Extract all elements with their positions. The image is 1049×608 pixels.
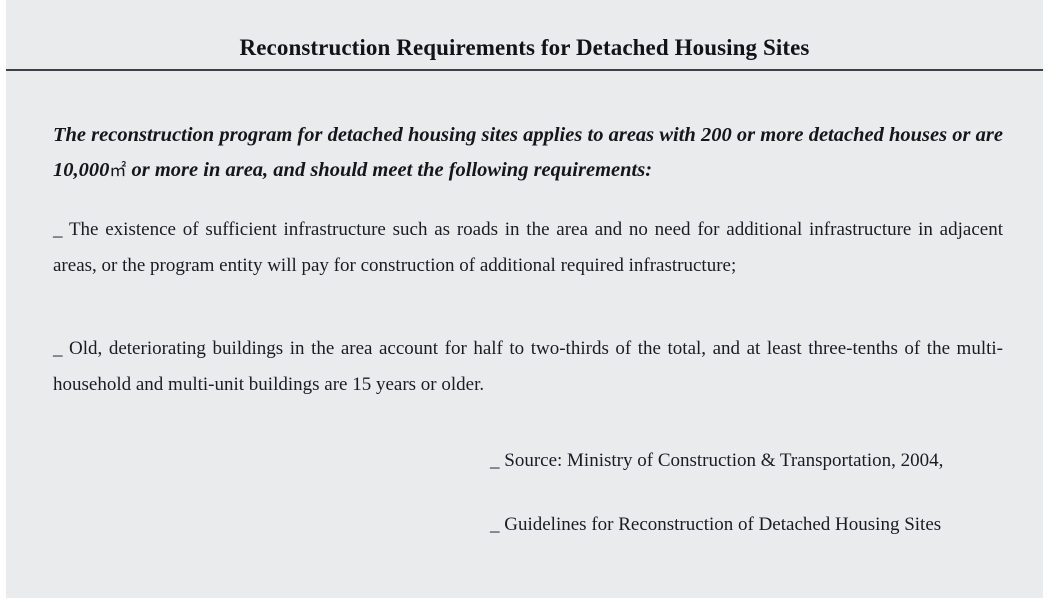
- clause-marker-icon: _: [53, 338, 63, 359]
- intro-paragraph: The reconstruction program for detached …: [53, 118, 1003, 188]
- document-page: Reconstruction Requirements for Detached…: [0, 0, 1049, 608]
- clause-text: Old, deteriorating buildings in the area…: [53, 338, 1003, 395]
- intro-text-part-2: or more in area, and should meet the fol…: [132, 159, 653, 181]
- title-block: Reconstruction Requirements for Detached…: [6, 34, 1043, 62]
- title-divider: [6, 69, 1043, 71]
- clause-item: _ Old, deteriorating buildings in the ar…: [53, 331, 1003, 403]
- clause-marker-icon: _: [53, 219, 63, 240]
- content-panel: Reconstruction Requirements for Detached…: [6, 0, 1043, 598]
- source-line-secondary: _ Guidelines for Reconstruction of Detac…: [490, 510, 1049, 540]
- square-meter-symbol: ㎡: [109, 161, 126, 180]
- source-attribution: _ Source: Ministry of Construction & Tra…: [490, 446, 1049, 540]
- page-title: Reconstruction Requirements for Detached…: [6, 34, 1043, 62]
- clause-text: The existence of sufficient infrastructu…: [53, 219, 1003, 276]
- clause-item: _ The existence of sufficient infrastruc…: [53, 212, 1003, 284]
- body-region: The reconstruction program for detached …: [53, 118, 1003, 403]
- source-line-primary: _ Source: Ministry of Construction & Tra…: [490, 446, 1049, 476]
